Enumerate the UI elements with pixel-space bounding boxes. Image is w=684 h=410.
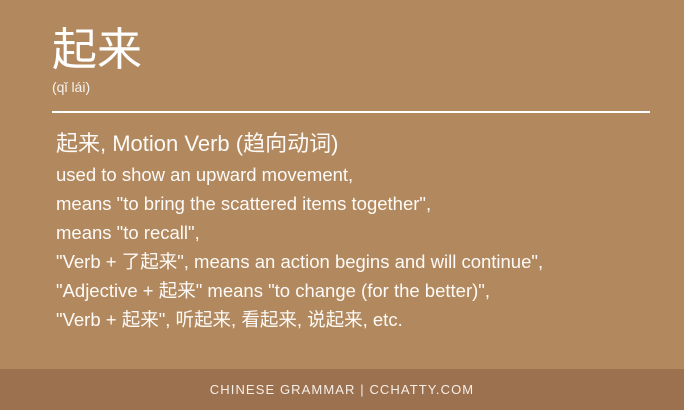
header-divider	[52, 111, 650, 113]
definition-line: "Adjective + 起来" means "to change (for t…	[56, 276, 666, 305]
page-title: 起来	[52, 24, 652, 76]
footer-branding: CHINESE GRAMMAR | CCHATTY.COM	[210, 382, 474, 397]
definition-line: "Verb + 了起来", means an action begins and…	[56, 247, 666, 276]
definition-line: means "to bring the scattered items toge…	[56, 189, 666, 218]
definition-list: 起来, Motion Verb (趋向动词) used to show an u…	[56, 129, 666, 334]
definition-line: used to show an upward movement,	[56, 160, 666, 189]
definition-line: means "to recall",	[56, 218, 666, 247]
definition-line: "Verb + 起来", 听起来, 看起来, 说起来, etc.	[56, 305, 666, 334]
card-header: 起来 (qǐ lái)	[52, 24, 652, 96]
definition-line-heading: 起来, Motion Verb (趋向动词)	[56, 129, 666, 159]
pinyin-label: (qǐ lái)	[52, 78, 652, 96]
grammar-card: 起来 (qǐ lái) 起来, Motion Verb (趋向动词) used …	[0, 0, 684, 410]
footer-bar: CHINESE GRAMMAR | CCHATTY.COM	[0, 369, 684, 410]
